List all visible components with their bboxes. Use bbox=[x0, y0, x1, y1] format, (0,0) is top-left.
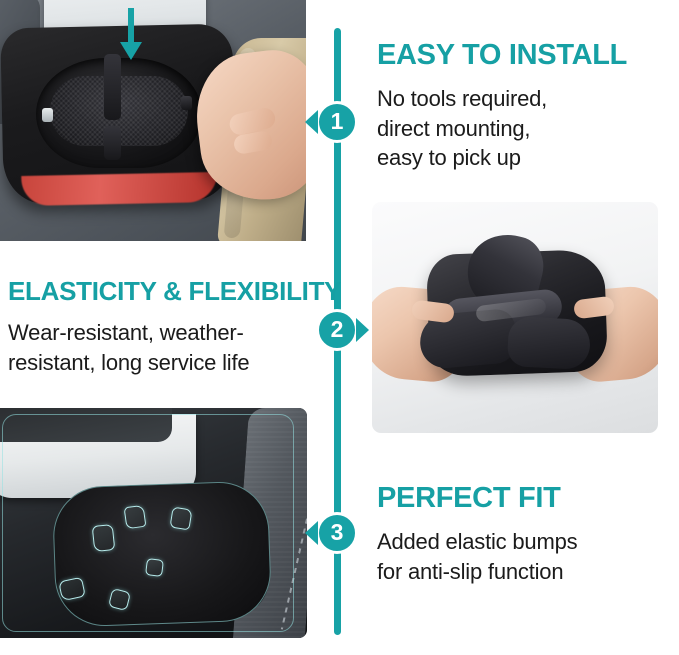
console-install-scene bbox=[0, 0, 306, 241]
step-number: 1 bbox=[331, 110, 344, 133]
description-line: Added elastic bumps bbox=[377, 527, 577, 556]
description-line: direct mounting, bbox=[377, 114, 627, 143]
feature-heading: EASY TO INSTALL bbox=[377, 40, 627, 70]
arrow-down-icon bbox=[118, 8, 144, 66]
feature-heading: ELASTICITY & FLEXIBILITY bbox=[8, 278, 341, 305]
mat-pull-tab-right bbox=[181, 96, 192, 110]
feature-heading: PERFECT FIT bbox=[377, 483, 577, 513]
seat-stitching bbox=[281, 519, 307, 630]
feature-block-elasticity-flexibility: ELASTICITY & FLEXIBILITY Wear-resistant,… bbox=[8, 278, 341, 377]
installed-bumps-photo bbox=[0, 408, 307, 638]
console-install-photo bbox=[0, 0, 306, 241]
installed-bumps-scene bbox=[0, 408, 307, 638]
feature-description: No tools required, direct mounting, easy… bbox=[377, 84, 627, 172]
mat-flex-scene bbox=[372, 202, 658, 433]
description-line: for anti-slip function bbox=[377, 557, 577, 586]
mat-pull-tab-left bbox=[42, 108, 53, 122]
feature-description: Added elastic bumps for anti-slip functi… bbox=[377, 527, 577, 586]
feature-description: Wear-resistant, weather- resistant, long… bbox=[8, 318, 341, 377]
description-line: Wear-resistant, weather- bbox=[8, 318, 341, 347]
triangle-left-icon bbox=[305, 521, 318, 545]
tray-red-accent bbox=[21, 172, 218, 206]
description-line: easy to pick up bbox=[377, 143, 627, 172]
feature-block-perfect-fit: PERFECT FIT Added elastic bumps for anti… bbox=[377, 483, 577, 586]
triangle-left-icon bbox=[305, 110, 318, 134]
dash-upper-trim bbox=[0, 408, 172, 442]
step-badge-1: 1 bbox=[316, 101, 358, 143]
mat-flex-photo bbox=[372, 202, 658, 433]
infographic-canvas: 1 2 3 EASY TO INSTALL No tools required,… bbox=[0, 0, 679, 655]
step-badge-3: 3 bbox=[316, 512, 358, 554]
elastic-bump-callout bbox=[145, 558, 164, 577]
triangle-right-icon bbox=[356, 318, 369, 342]
mat-divider-bottom bbox=[104, 126, 121, 160]
description-line: No tools required, bbox=[377, 84, 627, 113]
feature-block-easy-to-install: EASY TO INSTALL No tools required, direc… bbox=[377, 40, 627, 172]
elastic-bump-callout bbox=[92, 524, 116, 552]
mat-divider-bottom bbox=[163, 560, 185, 607]
step-number: 3 bbox=[331, 521, 344, 544]
description-line: resistant, long service life bbox=[8, 348, 341, 377]
step-badge-2: 2 bbox=[316, 309, 358, 351]
elastic-bump-callout bbox=[124, 505, 147, 530]
mat-fold bbox=[507, 316, 592, 370]
silicone-mat bbox=[72, 497, 250, 607]
step-number: 2 bbox=[331, 318, 344, 341]
elastic-bump-callout bbox=[169, 507, 192, 531]
